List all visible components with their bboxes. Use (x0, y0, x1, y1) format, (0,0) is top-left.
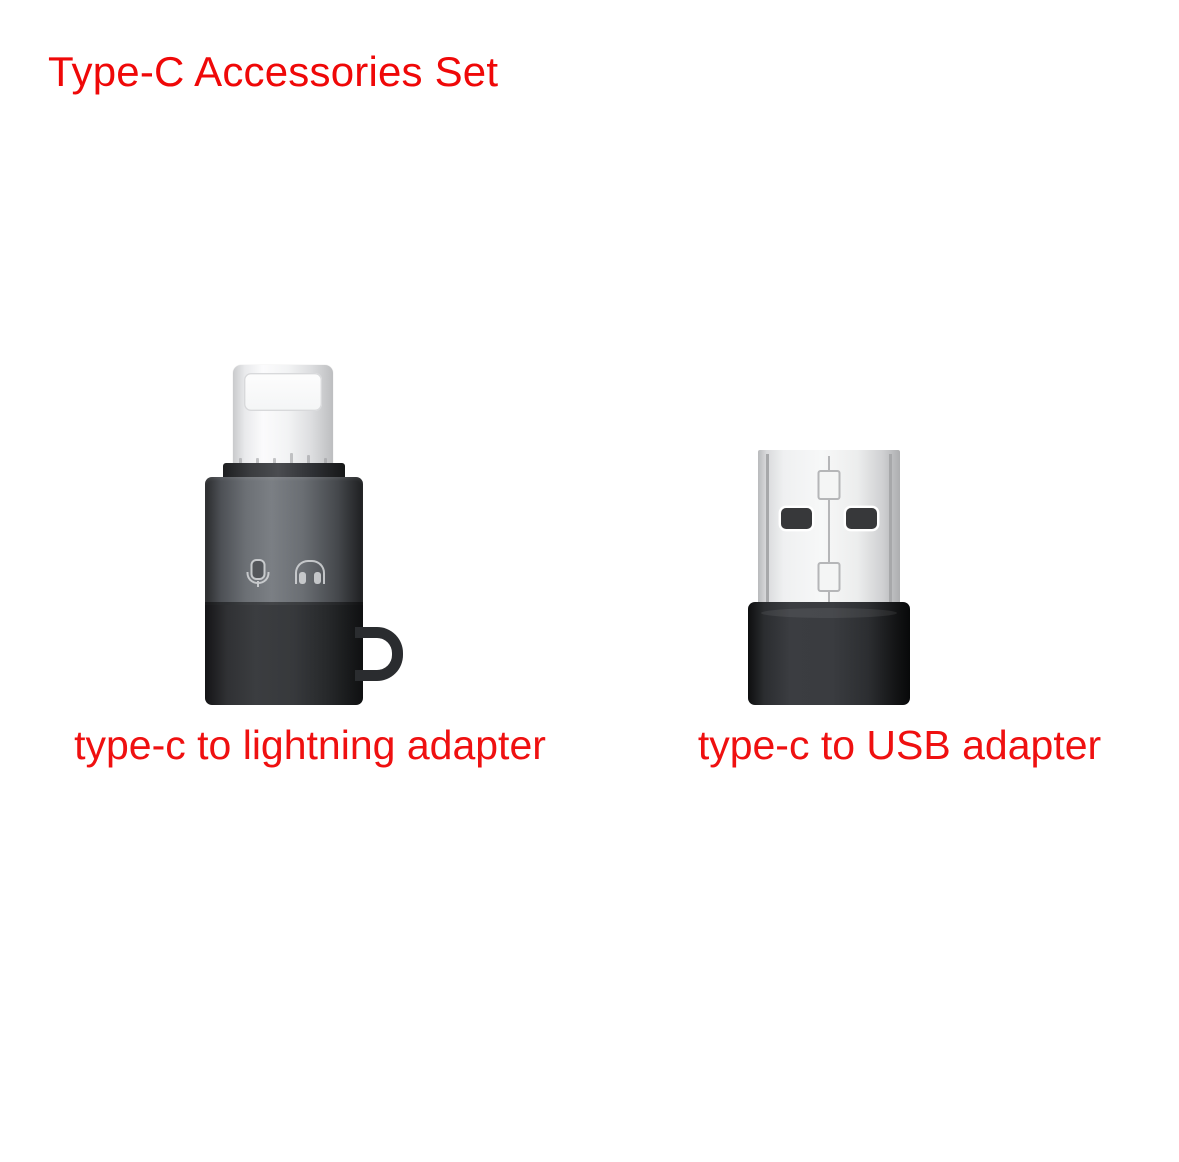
page-title: Type-C Accessories Set (48, 50, 498, 94)
usb-plug-edge-left (766, 454, 769, 605)
product-caption-lightning-adapter: type-c to lightning adapter (0, 723, 620, 768)
microphone-icon (243, 557, 273, 589)
usb-plug-edge-right (889, 454, 892, 605)
keyring-loop-icon (355, 627, 403, 681)
headphone-icon (295, 557, 325, 589)
adapter-upper-housing (205, 477, 363, 605)
product-image-lightning-adapter (0, 355, 620, 720)
product-gallery: type-c to lightning adapter type-c t (0, 355, 1179, 835)
lightning-adapter-graphic (205, 355, 425, 705)
lightning-plug-face (244, 373, 322, 411)
headphone-cup-right (314, 572, 321, 584)
adapter-icon-row (205, 557, 363, 589)
usb-contact-slot-left (781, 508, 812, 529)
product-card-usb-adapter[interactable]: type-c to USB adapter (620, 355, 1179, 835)
usb-adapter-graphic (748, 450, 923, 705)
product-caption-usb-adapter: type-c to USB adapter (620, 723, 1179, 768)
usb-contact-slot-right (846, 508, 877, 529)
usb-adapter-housing (748, 602, 910, 705)
headphone-cup-left (299, 572, 306, 584)
product-image-usb-adapter (620, 355, 1179, 720)
product-card-lightning-adapter[interactable]: type-c to lightning adapter (0, 355, 620, 835)
microphone-stem (257, 581, 259, 587)
usb-plug-notch-top (818, 470, 841, 500)
adapter-lower-housing (205, 605, 363, 705)
usb-plug-notch-bottom (818, 562, 841, 592)
usb-plug-icon (758, 450, 900, 605)
lightning-plug-icon (233, 365, 333, 473)
